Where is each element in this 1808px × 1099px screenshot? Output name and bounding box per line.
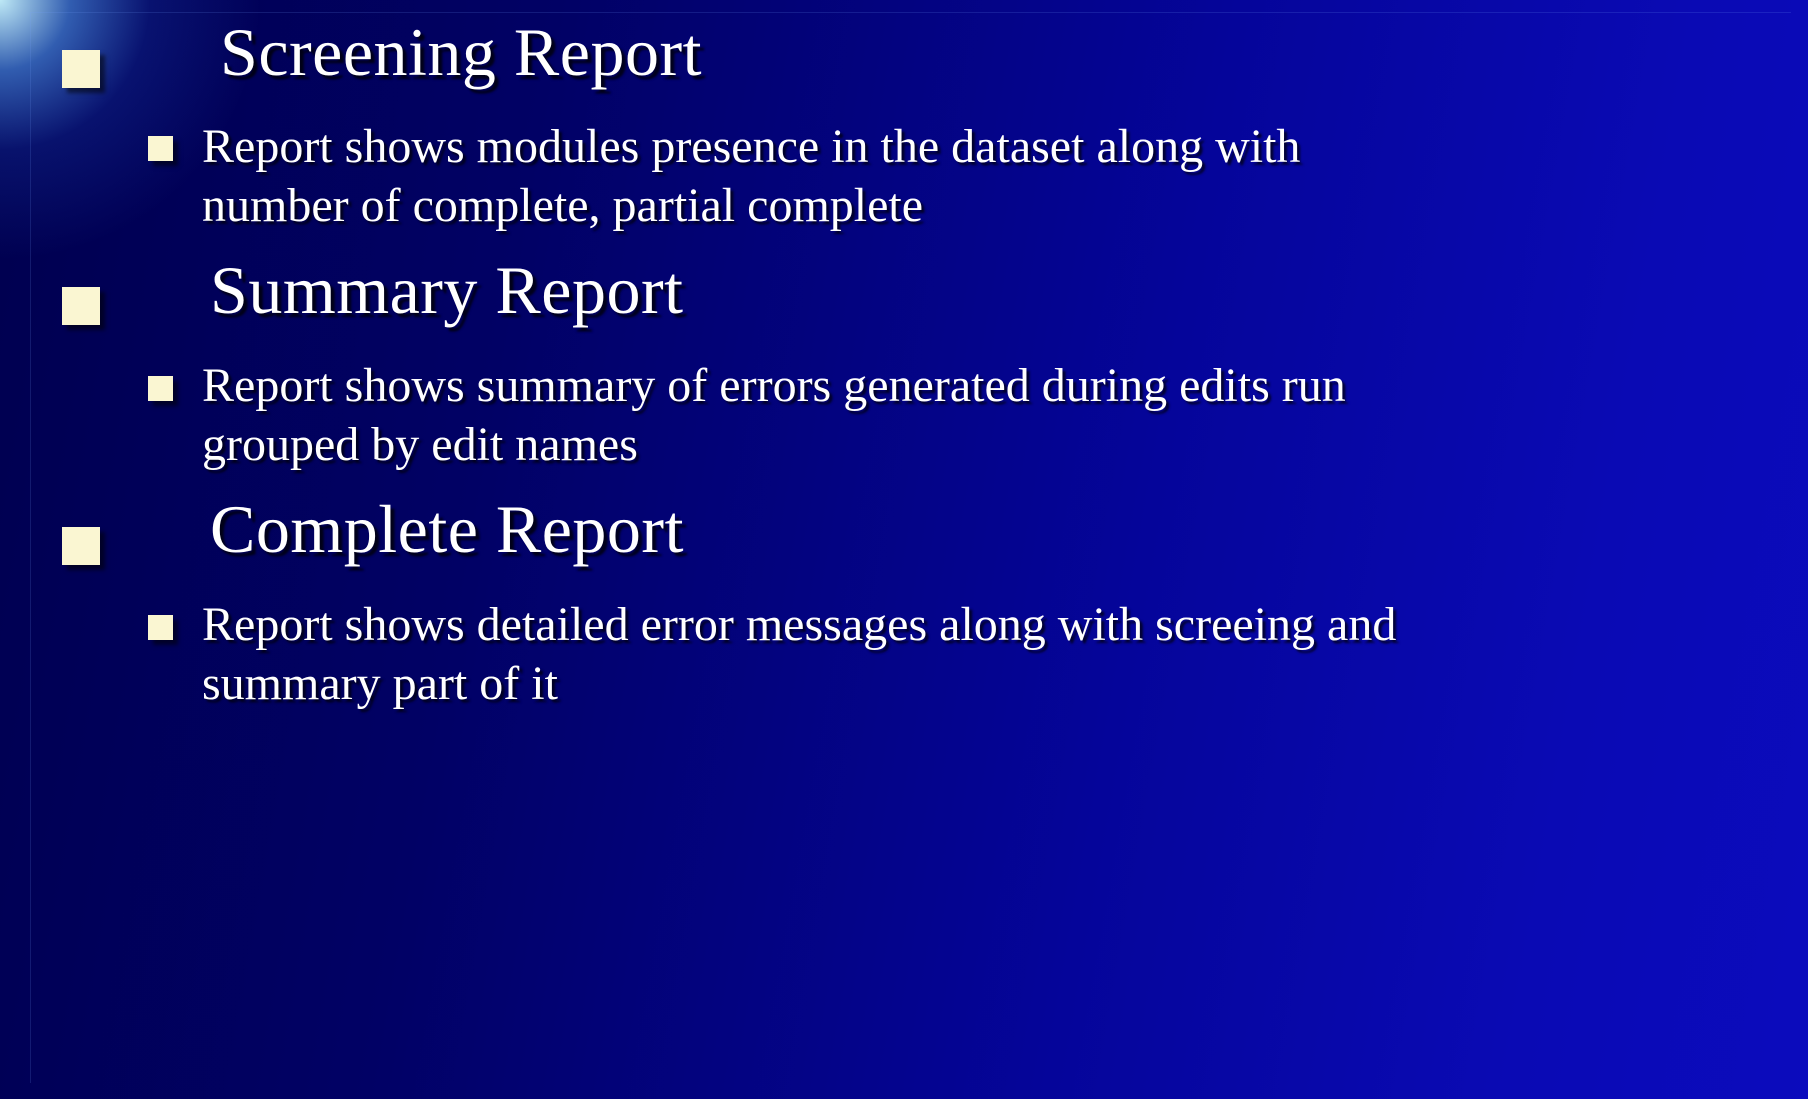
heading-text: Screening Report	[220, 18, 702, 86]
bullet-level2-screening	[148, 136, 173, 161]
heading-complete-report: Complete Report	[210, 495, 684, 563]
body-text: Report shows detailed error messages alo…	[202, 596, 1492, 713]
square-bullet-icon	[148, 615, 173, 640]
square-bullet-icon	[62, 50, 100, 88]
bullet-level1-summary	[62, 287, 100, 325]
bullet-level1-complete	[62, 527, 100, 565]
square-bullet-icon	[62, 287, 100, 325]
bullet-level2-summary	[148, 376, 173, 401]
heading-screening-report: Screening Report	[220, 18, 702, 86]
heading-summary-report: Summary Report	[210, 256, 684, 324]
bullet-level2-complete	[148, 615, 173, 640]
square-bullet-icon	[148, 136, 173, 161]
square-bullet-icon	[148, 376, 173, 401]
heading-text: Summary Report	[210, 256, 684, 324]
body-text: Report shows modules presence in the dat…	[202, 118, 1382, 235]
bullet-level1-screening	[62, 50, 100, 88]
body-screening-report: Report shows modules presence in the dat…	[202, 118, 1382, 235]
heading-text: Complete Report	[210, 495, 684, 563]
square-bullet-icon	[62, 527, 100, 565]
body-summary-report: Report shows summary of errors generated…	[202, 357, 1432, 474]
presentation-slide: Screening Report Report shows modules pr…	[0, 0, 1808, 1099]
slide-content-body: Screening Report Report shows modules pr…	[0, 0, 1808, 1099]
body-complete-report: Report shows detailed error messages alo…	[202, 596, 1492, 713]
body-text: Report shows summary of errors generated…	[202, 357, 1432, 474]
